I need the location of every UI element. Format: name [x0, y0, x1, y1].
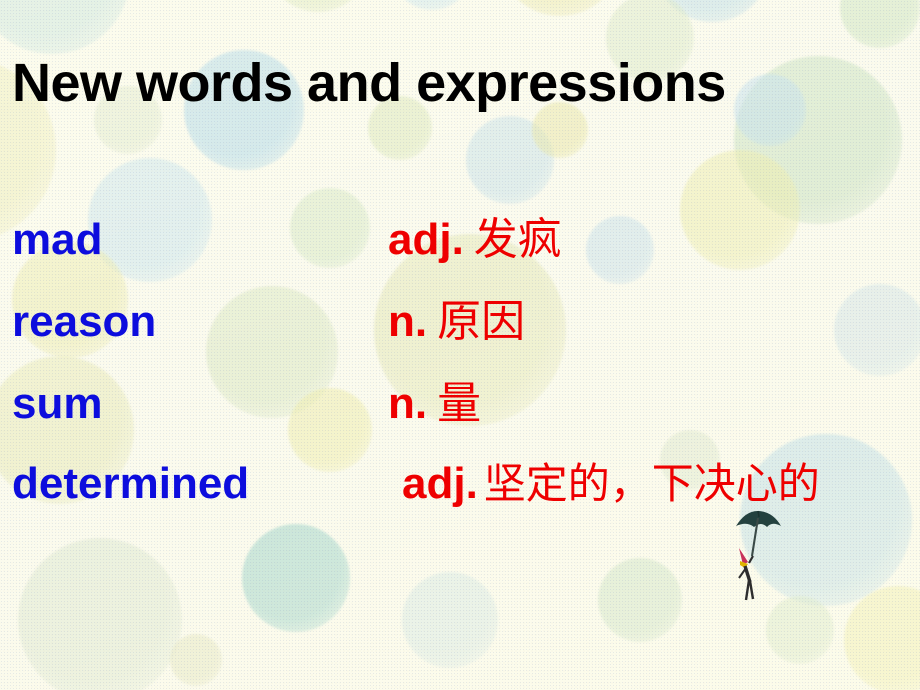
vocab-definition: n.原因	[388, 300, 525, 344]
vocab-term: mad	[12, 218, 388, 262]
vocab-row-mad: mad adj.发疯	[12, 218, 920, 280]
vocab-chinese-gloss: 坚定的，下决心的	[484, 459, 820, 508]
vocab-part-of-speech: adj.	[402, 459, 478, 508]
vocab-term: sum	[12, 382, 388, 426]
vocab-chinese-gloss: 原因	[437, 296, 525, 347]
vocab-term: determined	[12, 462, 388, 506]
vocab-row-sum: sum n.量	[12, 382, 920, 444]
slide-canvas: New words and expressions mad adj.发疯 rea…	[0, 0, 920, 690]
vocab-term: reason	[12, 300, 388, 344]
vocab-part-of-speech: adj.	[388, 215, 464, 264]
vocab-chinese-gloss: 量	[437, 378, 481, 429]
vocab-part-of-speech: n.	[388, 379, 427, 428]
page-title: New words and expressions	[12, 56, 726, 110]
man-hanging-from-umbrella-icon	[726, 508, 792, 604]
slide-content: New words and expressions mad adj.发疯 rea…	[0, 0, 920, 690]
vocab-definition: adj.坚定的，下决心的	[388, 462, 820, 506]
vocab-definition: adj.发疯	[388, 218, 562, 262]
vocab-row-reason: reason n.原因	[12, 300, 920, 362]
vocab-part-of-speech: n.	[388, 297, 427, 346]
vocab-definition: n.量	[388, 382, 481, 426]
vocab-chinese-gloss: 发疯	[474, 214, 562, 265]
